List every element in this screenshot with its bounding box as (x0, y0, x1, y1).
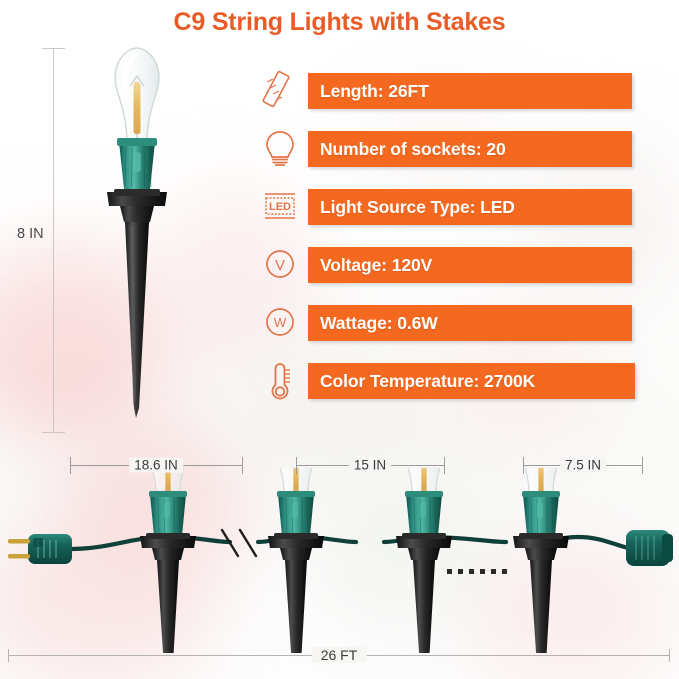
spec-row-light-source: LED Light Source Type: LED (258, 178, 638, 236)
spec-bar: Color Temperature: 2700K (308, 363, 635, 399)
svg-text:W: W (274, 315, 287, 330)
stake-lamp (396, 468, 452, 653)
spec-row-color-temperature: Color Temperature: 2700K (258, 352, 638, 410)
spec-bar: Voltage: 120V (308, 247, 632, 283)
spec-row-voltage: V Voltage: 120V (258, 236, 638, 294)
spec-bar: Length: 26FT (308, 73, 632, 109)
voltage-icon: V (258, 240, 302, 288)
spec-label: Voltage: 120V (308, 255, 432, 276)
male-plug (8, 534, 72, 564)
spec-list: Length: 26FT Number of sockets: 20 (258, 62, 638, 410)
spec-label: Light Source Type: LED (308, 197, 515, 218)
string-light-diagram (0, 468, 679, 653)
spacing-dimension-label: 18.6 IN (129, 458, 183, 473)
spec-row-length: Length: 26FT (258, 62, 638, 120)
spec-label: Length: 26FT (308, 81, 429, 102)
product-infographic: C9 String Lights with Stakes (0, 0, 679, 679)
wattage-icon: W (258, 298, 302, 346)
page-title: C9 String Lights with Stakes (0, 8, 679, 37)
total-dimension-label: 26 FT (312, 647, 367, 663)
stake-lamp (268, 468, 324, 653)
stake-lamp (140, 468, 196, 653)
hero-dimension-line (53, 48, 54, 433)
stake-lamp (513, 468, 569, 653)
svg-text:LED: LED (269, 201, 291, 213)
hero-dimension-label: 8 IN (14, 225, 47, 243)
spec-label: Number of sockets: 20 (308, 139, 506, 160)
continuation-ellipsis (447, 569, 507, 574)
spec-row-wattage: W Wattage: 0.6W (258, 294, 638, 352)
led-chip-icon: LED (258, 182, 302, 230)
spacing-dimension-label: 7.5 IN (560, 458, 606, 473)
svg-text:V: V (275, 257, 285, 274)
spacing-dimension-label: 15 IN (349, 458, 391, 473)
spec-row-sockets: Number of sockets: 20 (258, 120, 638, 178)
light-bulb-icon (258, 124, 302, 172)
spec-bar: Light Source Type: LED (308, 189, 632, 225)
stake-light-illustration (62, 46, 212, 436)
ruler-icon (258, 66, 302, 114)
spec-label: Wattage: 0.6W (308, 313, 438, 334)
thermometer-icon (258, 356, 302, 404)
spec-label: Color Temperature: 2700K (308, 371, 535, 392)
spec-bar: Wattage: 0.6W (308, 305, 632, 341)
spec-bar: Number of sockets: 20 (308, 131, 632, 167)
female-socket (626, 530, 673, 566)
